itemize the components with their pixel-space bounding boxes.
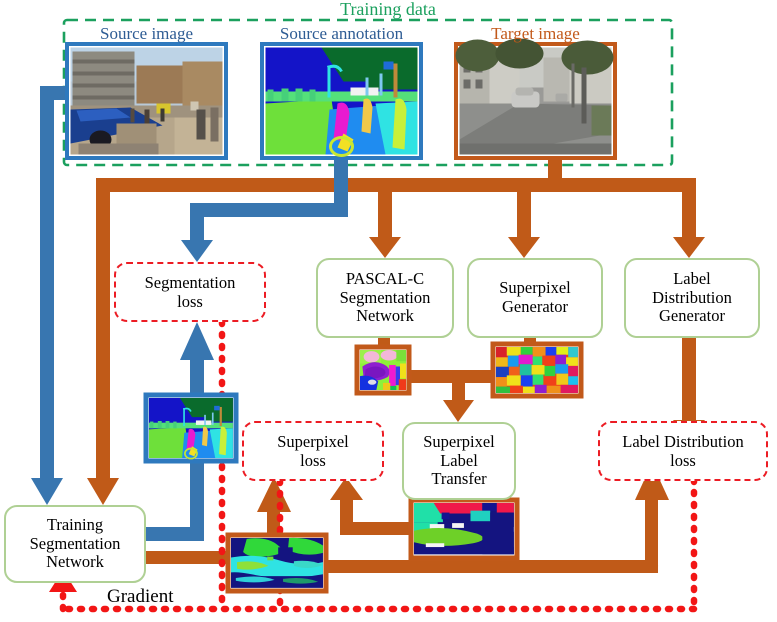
module-label: PASCAL-C Segmentation Network (340, 270, 431, 326)
loss-superpixel[interactable]: Superpixel loss (242, 421, 384, 481)
module-pascal-c-segmentation-network[interactable]: PASCAL-C Segmentation Network (316, 258, 454, 338)
module-label: Training Segmentation Network (30, 516, 121, 572)
target-image-caption: Target image (456, 24, 615, 43)
source-annotation-caption: Source annotation (262, 24, 421, 43)
transferred-label-thumbnail (411, 500, 517, 558)
module-label: Superpixel Label Transfer (423, 433, 495, 489)
pascal-c-output-thumbnail (357, 347, 409, 393)
source-image-caption: Source image (67, 24, 226, 43)
superpixel-map-thumbnail (493, 344, 581, 396)
source-image-thumbnail (67, 44, 226, 158)
module-superpixel-label-transfer[interactable]: Superpixel Label Transfer (402, 422, 516, 500)
loss-label: Label Distribution loss (622, 432, 743, 470)
module-superpixel-generator[interactable]: Superpixel Generator (467, 258, 603, 338)
loss-label: Superpixel loss (277, 432, 349, 470)
module-label-distribution-generator[interactable]: Label Distribution Generator (624, 258, 760, 338)
diagram-canvas: Training data Source image Source annota… (0, 0, 777, 622)
loss-label: Segmentation loss (145, 273, 236, 311)
source-annotation-thumbnail (262, 44, 421, 158)
prediction-thumbnail (228, 535, 326, 591)
loss-segmentation[interactable]: Segmentation loss (114, 262, 266, 322)
training-data-title: Training data (288, 0, 488, 19)
loss-label-distribution[interactable]: Label Distribution loss (598, 421, 768, 481)
gradient-label: Gradient (107, 586, 173, 608)
module-label: Superpixel Generator (499, 279, 571, 317)
source-prediction-thumbnail (146, 395, 236, 461)
target-image-thumbnail (456, 39, 616, 159)
module-training-segmentation-network[interactable]: Training Segmentation Network (4, 505, 146, 583)
module-label: Label Distribution Generator (652, 270, 732, 326)
